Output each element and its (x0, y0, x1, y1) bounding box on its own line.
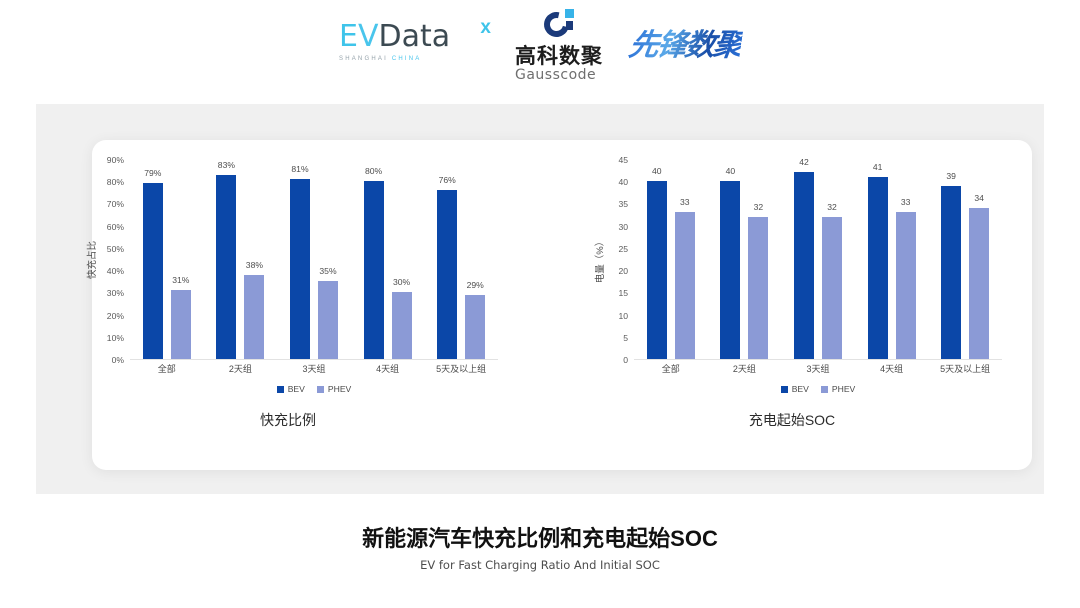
bar-bev[interactable]: 83% (216, 175, 236, 359)
bar-phev[interactable]: 32 (748, 217, 768, 359)
bar-phev[interactable]: 29% (465, 295, 485, 359)
evdata-tagline: SHANGHAI CHINA (339, 56, 489, 62)
bar-value-label: 32 (754, 202, 764, 212)
page-title-cn: 新能源汽车快充比例和充电起始SOC (0, 524, 1080, 554)
evdata-x-mark: x (480, 17, 491, 39)
bar-bev[interactable]: 40 (647, 181, 667, 359)
y-tick-label: 70% (107, 199, 124, 209)
bar-value-label: 76% (439, 175, 456, 185)
bar-value-label: 40 (652, 166, 662, 176)
bar-group: 81%35% (277, 160, 351, 359)
bar-value-label: 33 (680, 197, 690, 207)
y-tick-label: 5 (623, 333, 628, 343)
x-axis-label: 全部 (158, 362, 176, 375)
x-axis-label: 全部 (662, 362, 680, 375)
gausscode-logo: 高科数聚 Gausscode (515, 9, 603, 83)
bar-value-label: 32 (827, 202, 837, 212)
legend-swatch-icon (277, 386, 284, 393)
legend-0: BEVPHEV (130, 384, 498, 394)
y-tick-label: 25 (618, 244, 628, 254)
bar-value-label: 39 (946, 171, 956, 181)
bar-bev[interactable]: 41 (868, 177, 888, 359)
bar-value-label: 31% (172, 275, 189, 285)
charts-container: 快充占比 0%10%20%30%40%50%60%70%80%90% 79%31… (36, 104, 1044, 494)
page-title-en: EV for Fast Charging Ratio And Initial S… (0, 558, 1080, 573)
bar-phev[interactable]: 31% (171, 290, 191, 359)
y-tick-label: 80% (107, 177, 124, 187)
y-tick-label: 40 (618, 177, 628, 187)
xianfeng-logo: 先锋数聚 (629, 29, 741, 63)
x-axis-label: 5天及以上组 (940, 362, 990, 375)
bar-bev[interactable]: 80% (364, 181, 384, 359)
bar-value-label: 33 (901, 197, 911, 207)
legend-label: BEV (288, 384, 305, 394)
plot-bars-1: 40334032423241333934 (634, 160, 1002, 360)
y-tick-label: 40% (107, 266, 124, 276)
bar-value-label: 30% (393, 277, 410, 287)
legend-swatch-icon (821, 386, 828, 393)
bar-phev[interactable]: 34 (969, 208, 989, 359)
bar-group: 3934 (928, 160, 1002, 359)
evdata-tagline-country: CHINA (392, 56, 422, 62)
bar-group: 4232 (781, 160, 855, 359)
bar-phev[interactable]: 35% (318, 281, 338, 359)
y-tick-label: 50% (107, 244, 124, 254)
bar-group: 4133 (855, 160, 929, 359)
bar-phev[interactable]: 33 (896, 212, 916, 359)
bar-value-label: 34 (974, 193, 984, 203)
bar-group: 79%31% (130, 160, 204, 359)
bar-group: 4033 (634, 160, 708, 359)
bar-value-label: 79% (144, 168, 161, 178)
y-tick-label: 60% (107, 222, 124, 232)
bar-bev[interactable]: 76% (437, 190, 457, 359)
y-tick-label: 0% (112, 355, 124, 365)
bar-bev[interactable]: 42 (794, 172, 814, 359)
bar-group: 83%38% (204, 160, 278, 359)
bar-value-label: 38% (246, 260, 263, 270)
chart-fast-charging-ratio: 快充占比 0%10%20%30%40%50%60%70%80%90% 79%31… (36, 104, 540, 494)
evdata-tagline-city: SHANGHAI (339, 56, 388, 62)
bar-value-label: 42 (799, 157, 809, 167)
bar-value-label: 29% (467, 280, 484, 290)
gausscode-en-text: Gausscode (515, 67, 603, 83)
bar-value-label: 35% (319, 266, 336, 276)
evdata-logo: EVEVDataData x SHANGHAI CHINA (339, 20, 489, 72)
y-tick-label: 30 (618, 222, 628, 232)
y-tick-label: 10 (618, 311, 628, 321)
bar-bev[interactable]: 39 (941, 186, 961, 359)
bar-bev[interactable]: 81% (290, 179, 310, 359)
x-axis-label: 2天组 (733, 362, 756, 375)
y-tick-label: 20 (618, 266, 628, 276)
x-labels-1: 全部2天组3天组4天组5天及以上组 (634, 362, 1002, 380)
y-tick-label: 30% (107, 288, 124, 298)
bar-value-label: 41 (873, 162, 883, 172)
x-axis-label: 3天组 (302, 362, 325, 375)
legend-item-bev[interactable]: BEV (277, 384, 305, 394)
chart-title-0: 快充比例 (36, 410, 540, 430)
legend-swatch-icon (781, 386, 788, 393)
bar-phev[interactable]: 30% (392, 292, 412, 359)
bar-phev[interactable]: 32 (822, 217, 842, 359)
y-tick-label: 90% (107, 155, 124, 165)
plot-bars-0: 79%31%83%38%81%35%80%30%76%29% (130, 160, 498, 360)
bar-group: 4032 (708, 160, 782, 359)
legend-swatch-icon (317, 386, 324, 393)
bar-value-label: 81% (291, 164, 308, 174)
y-tick-label: 0 (623, 355, 628, 365)
bar-bev[interactable]: 40 (720, 181, 740, 359)
x-axis-label: 4天组 (376, 362, 399, 375)
y-tick-label: 45 (618, 155, 628, 165)
y-tick-label: 35 (618, 199, 628, 209)
y-tick-label: 10% (107, 333, 124, 343)
chart-title-1: 充电起始SOC (540, 410, 1044, 430)
gausscode-cn-text: 高科数聚 (515, 46, 603, 67)
y-tick-label: 20% (107, 311, 124, 321)
bar-bev[interactable]: 79% (143, 183, 163, 359)
y-ticks-1: 051015202530354045 (598, 160, 632, 360)
y-ticks-0: 0%10%20%30%40%50%60%70%80%90% (94, 160, 128, 360)
legend-label: PHEV (832, 384, 855, 394)
evdata-wordmark: EVEVDataData (339, 20, 489, 54)
logo-bar: EVEVDataData x SHANGHAI CHINA 高科数聚 Gauss… (0, 0, 1080, 92)
footer: 新能源汽车快充比例和充电起始SOC EV for Fast Charging R… (0, 524, 1080, 573)
xianfeng-cn-text: 先锋数聚 (627, 29, 744, 63)
y-tick-label: 15 (618, 288, 628, 298)
plot-area-1: 电量（%） 051015202530354045 403340324232413… (582, 160, 1002, 360)
chart-initial-soc: 电量（%） 051015202530354045 403340324232413… (540, 104, 1044, 494)
x-axis-label: 5天及以上组 (436, 362, 486, 375)
x-axis-label: 4天组 (880, 362, 903, 375)
x-axis-label: 2天组 (229, 362, 252, 375)
legend-1: BEVPHEV (634, 384, 1002, 394)
bar-value-label: 83% (218, 160, 235, 170)
bar-phev[interactable]: 38% (244, 275, 264, 359)
bar-phev[interactable]: 33 (675, 212, 695, 359)
bar-value-label: 80% (365, 166, 382, 176)
x-axis-label: 3天组 (806, 362, 829, 375)
legend-label: BEV (792, 384, 809, 394)
bar-value-label: 40 (726, 166, 736, 176)
bar-group: 80%30% (351, 160, 425, 359)
gausscode-mark-icon (544, 9, 574, 39)
legend-label: PHEV (328, 384, 351, 394)
bar-group: 76%29% (424, 160, 498, 359)
x-labels-0: 全部2天组3天组4天组5天及以上组 (130, 362, 498, 380)
legend-item-phev[interactable]: PHEV (821, 384, 855, 394)
plot-area-0: 快充占比 0%10%20%30%40%50%60%70%80%90% 79%31… (78, 160, 498, 360)
legend-item-bev[interactable]: BEV (781, 384, 809, 394)
legend-item-phev[interactable]: PHEV (317, 384, 351, 394)
